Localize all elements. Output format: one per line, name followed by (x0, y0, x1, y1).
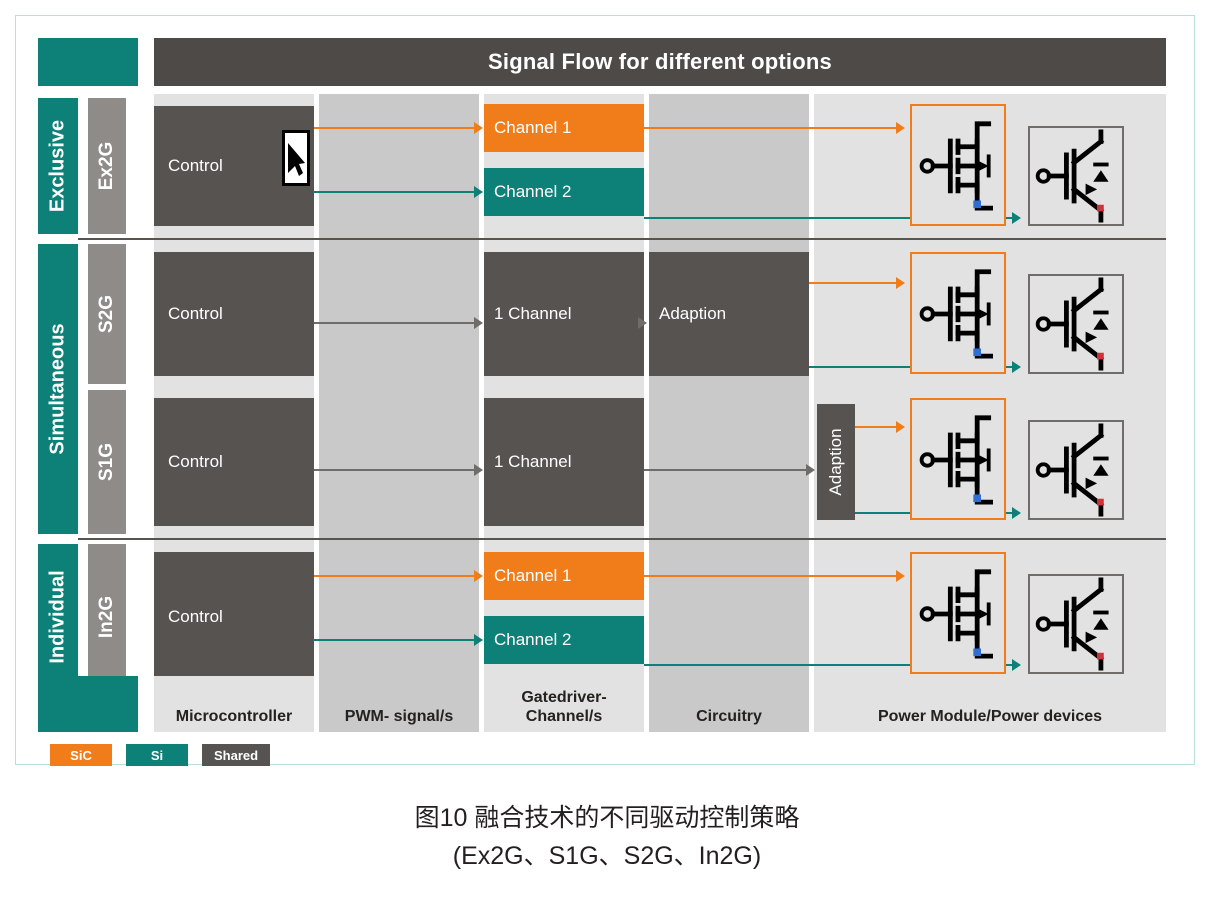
arrowhead-teal (1012, 361, 1021, 373)
row-key-ex2g: Ex2G (88, 98, 126, 234)
header-teal-block (38, 38, 138, 86)
caption-line-1: 图10 融合技术的不同驱动控制策略 (0, 800, 1214, 838)
channel-box-in2g-2: Channel 2 (484, 616, 644, 664)
igbt-icon (1028, 126, 1124, 226)
group-label-individual: Individual (38, 544, 78, 690)
cursor-artifact (282, 130, 310, 186)
caption-line-2: (Ex2G、S1G、S2G、In2G) (0, 838, 1214, 876)
arrowhead-orange (896, 421, 905, 433)
column-band-circuitry (649, 94, 809, 694)
igbt-icon (1028, 274, 1124, 374)
channel-box-ex2g-2: Channel 2 (484, 168, 644, 216)
legend-item-sic: SiC (50, 744, 112, 766)
row-key-s1g: S1G (88, 390, 126, 534)
igbt-icon (1028, 574, 1124, 674)
signal-line-orange (809, 282, 898, 284)
control-box-in2g: Control (154, 552, 314, 682)
channel-box-ex2g-1: Channel 1 (484, 104, 644, 152)
group-label-exclusive: Exclusive (38, 98, 78, 234)
control-box-s1g: Control (154, 398, 314, 526)
signal-line-orange (855, 426, 898, 428)
signal-flow-grid: Exclusive Ex2G Control Channel 1 Channel… (38, 94, 1166, 694)
signal-line-gray (644, 469, 808, 471)
column-caption-pwm: PWM- signal/s (319, 676, 479, 732)
arrowhead-orange (474, 122, 483, 134)
figure-caption: 图10 融合技术的不同驱动控制策略 (Ex2G、S1G、S2G、In2G) (0, 800, 1214, 875)
arrowhead-gray (474, 464, 483, 476)
page-title: Signal Flow for different options (154, 38, 1166, 86)
footer-teal-block (38, 676, 138, 732)
legend-item-shared: Shared (202, 744, 270, 766)
mosfet-icon (910, 252, 1006, 374)
signal-line-orange (314, 127, 476, 129)
signal-line-orange (644, 575, 898, 577)
group-separator (78, 538, 1166, 540)
channel-box-in2g-1: Channel 1 (484, 552, 644, 600)
adaption-box-s2g: Adaption (649, 252, 809, 376)
legend-item-si: Si (126, 744, 188, 766)
legend: SiC Si Shared (50, 744, 270, 766)
mosfet-icon (910, 552, 1006, 674)
arrowhead-orange (896, 570, 905, 582)
mosfet-icon (910, 398, 1006, 520)
column-caption-gatedriver: Gatedriver- Channel/s (484, 676, 644, 732)
group-label-simultaneous: Simultaneous (38, 244, 78, 534)
arrowhead-teal (1012, 212, 1021, 224)
column-band-pwm (319, 94, 479, 694)
column-caption-power-module: Power Module/Power devices (814, 676, 1166, 732)
arrowhead-gray (474, 317, 483, 329)
adaption-box-s1g: Adaption (817, 404, 855, 520)
signal-line-orange (314, 575, 476, 577)
signal-line-teal (314, 639, 476, 641)
column-caption-circuitry: Circuitry (649, 676, 809, 732)
arrowhead-teal (1012, 507, 1021, 519)
signal-line-gray (314, 469, 476, 471)
arrowhead-gray (638, 317, 647, 329)
row-key-s2g: S2G (88, 244, 126, 384)
arrowhead-orange (896, 277, 905, 289)
control-box-s2g: Control (154, 252, 314, 376)
igbt-icon (1028, 420, 1124, 520)
signal-line-gray (314, 322, 476, 324)
arrowhead-orange (896, 122, 905, 134)
arrowhead-teal (1012, 659, 1021, 671)
arrowhead-orange (474, 570, 483, 582)
arrowhead-teal (474, 186, 483, 198)
channel-box-s2g: 1 Channel (484, 252, 644, 376)
signal-line-teal (314, 191, 476, 193)
group-separator (78, 238, 1166, 240)
arrowhead-gray (806, 464, 815, 476)
column-caption-microcontroller: Microcontroller (154, 676, 314, 732)
channel-box-s1g: 1 Channel (484, 398, 644, 526)
signal-line-orange (644, 127, 898, 129)
mosfet-icon (910, 104, 1006, 226)
arrowhead-teal (474, 634, 483, 646)
figure-frame: Signal Flow for different options Exclus… (15, 15, 1195, 765)
row-key-in2g: In2G (88, 544, 126, 690)
